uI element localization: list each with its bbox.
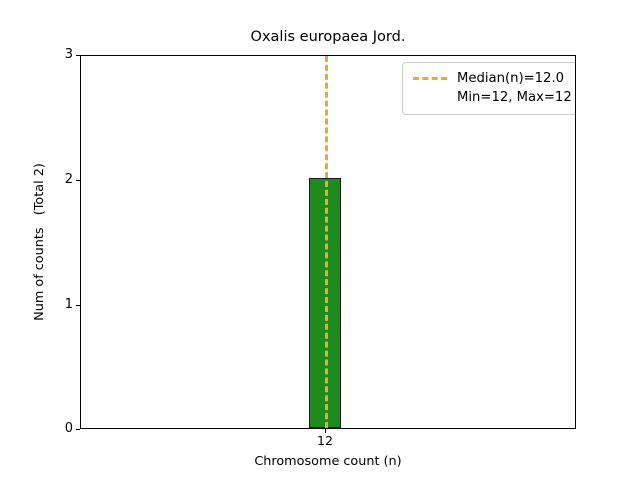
y-axis-label: Num of counts (Total 2) [31, 55, 49, 429]
legend-item-median: Median(n)=12.0 [412, 69, 572, 88]
y-tick-label-3: 3 [65, 48, 73, 61]
legend-label-median: Median(n)=12.0 [457, 69, 564, 88]
matplotlib-figure: Oxalis europaea Jord. 3 2 1 0 12 Chromos… [0, 0, 640, 480]
legend[interactable]: Median(n)=12.0 Min=12, Max=12 [402, 62, 576, 115]
x-tick-label-12: 12 [317, 434, 333, 448]
x-axis-label: Chromosome count (n) [80, 454, 576, 469]
median-line [325, 56, 328, 428]
y-tick-label-1: 1 [65, 298, 73, 311]
plot-area: Median(n)=12.0 Min=12, Max=12 [80, 55, 576, 429]
dashed-line-icon [412, 69, 448, 88]
chart-title: Oxalis europaea Jord. [80, 28, 576, 46]
y-tick-mark-0 [76, 429, 80, 430]
y-tick-label-2: 2 [65, 173, 73, 186]
legend-item-minmax: Min=12, Max=12 [412, 88, 572, 107]
y-tick-label-0: 0 [65, 422, 73, 435]
legend-label-minmax: Min=12, Max=12 [457, 88, 572, 107]
